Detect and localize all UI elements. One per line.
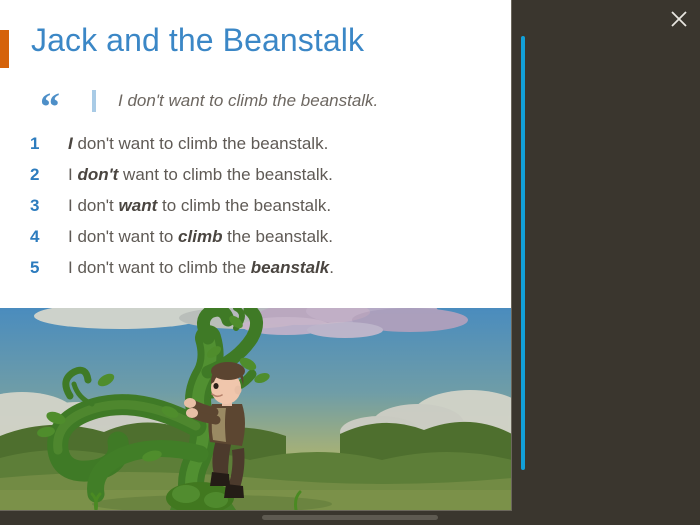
sentence-post: don't want to climb the beanstalk.	[73, 134, 329, 153]
list-item[interactable]: 4 I don't want to climb the beanstalk.	[0, 227, 511, 258]
sentence-text: I don't want to climb the beanstalk.	[68, 258, 334, 278]
title-row: Jack and the Beanstalk	[0, 30, 511, 74]
sentence-pre: I don't	[68, 196, 119, 215]
sentence-pre: I don't want to climb the	[68, 258, 251, 277]
sentence-text: I don't want to climb the beanstalk.	[68, 134, 328, 154]
horizontal-scrollbar[interactable]	[262, 515, 438, 520]
sentence-text: I don't want to climb the beanstalk.	[68, 227, 333, 247]
quote-divider	[92, 90, 96, 112]
sentence-index: 5	[30, 258, 68, 278]
vertical-scrollbar[interactable]	[521, 36, 525, 470]
sentence-index: 4	[30, 227, 68, 247]
close-button[interactable]	[666, 6, 692, 32]
list-item[interactable]: 5 I don't want to climb the beanstalk.	[0, 258, 511, 289]
sentence-emphasis: want	[119, 196, 158, 215]
sentence-index: 3	[30, 196, 68, 216]
sentence-text: I don't want to climb the beanstalk.	[68, 196, 331, 216]
sentence-post: want to climb the beanstalk.	[118, 165, 333, 184]
sentence-pre: I don't want to	[68, 227, 178, 246]
sentence-list: 1 I don't want to climb the beanstalk. 2…	[0, 134, 511, 289]
boy-climbing-beanstalk-illustration	[0, 308, 512, 510]
content-card: Jack and the Beanstalk “ I don't want to…	[0, 0, 512, 511]
list-item[interactable]: 2 I don't want to climb the beanstalk.	[0, 165, 511, 196]
quote-text: I don't want to climb the beanstalk.	[118, 91, 378, 111]
page-title: Jack and the Beanstalk	[31, 22, 364, 59]
quote-block: “ I don't want to climb the beanstalk.	[0, 86, 511, 116]
sentence-post: to climb the beanstalk.	[157, 196, 331, 215]
sentence-emphasis: don't	[77, 165, 118, 184]
sentence-index: 2	[30, 165, 68, 185]
title-accent-bar	[0, 30, 9, 68]
sentence-index: 1	[30, 134, 68, 154]
close-icon	[666, 6, 692, 32]
list-item[interactable]: 3 I don't want to climb the beanstalk.	[0, 196, 511, 227]
list-item[interactable]: 1 I don't want to climb the beanstalk.	[0, 134, 511, 165]
illustration-canvas	[0, 308, 512, 510]
sentence-emphasis: climb	[178, 227, 222, 246]
sentence-post: .	[329, 258, 334, 277]
sentence-text: I don't want to climb the beanstalk.	[68, 165, 333, 185]
sentence-post: the beanstalk.	[222, 227, 333, 246]
sentence-emphasis: beanstalk	[251, 258, 329, 277]
